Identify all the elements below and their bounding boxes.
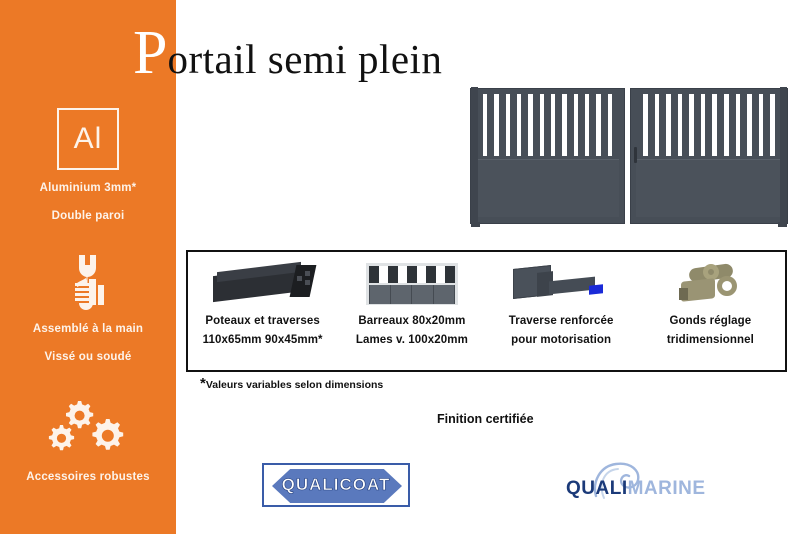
feature-gonds-line2: tridimensionnel xyxy=(667,334,754,346)
gate-leaf-left xyxy=(470,88,625,224)
sidebar-label-aluminium-1: Aluminium 3mm* xyxy=(0,180,176,198)
gate-bars-left xyxy=(476,94,619,156)
gate-leaf-right xyxy=(630,88,788,224)
feature-gonds-line1: Gonds réglage xyxy=(669,315,751,327)
hinge-icon xyxy=(677,261,743,307)
certification-heading: Finition certifiée xyxy=(437,412,534,426)
sidebar-item-aluminium: Al Aluminium 3mm* Double paroi xyxy=(0,108,176,226)
footnote: *Valeurs variables selon dimensions xyxy=(200,379,383,391)
features-panel: Poteaux et traverses 110x65mm 90x45mm* B… xyxy=(186,250,787,372)
hand-wrench-icon xyxy=(0,253,176,311)
gate-post-left xyxy=(471,87,478,227)
page-title: P ortail semi plein xyxy=(133,22,442,84)
sidebar-item-assembly: Assemblé à la main Vissé ou soudé xyxy=(0,253,176,367)
page-title-rest: ortail semi plein xyxy=(167,39,442,80)
sidebar-label-accessories: Accessoires robustes xyxy=(0,469,176,487)
portail-semi-plein-image xyxy=(470,88,788,224)
footnote-text: Valeurs variables selon dimensions xyxy=(206,379,383,391)
qualimarine-part1: QUALI xyxy=(566,478,628,499)
qualicoat-logo-text: QUALICOAT xyxy=(282,475,391,495)
sidebar-label-assembly-1: Assemblé à la main xyxy=(0,321,176,339)
feature-barreaux-line1: Barreaux 80x20mm xyxy=(358,315,465,327)
gate-handle-icon xyxy=(634,147,637,163)
feature-poteaux-line1: Poteaux et traverses xyxy=(205,315,320,327)
gate-sample-icon xyxy=(366,261,458,307)
feature-traverse-line2: pour motorisation xyxy=(511,334,611,346)
qualimarine-logo: QUALIMARINE xyxy=(560,462,720,508)
qualimarine-part2: MARINE xyxy=(628,478,706,499)
product-sheet-page: Al Aluminium 3mm* Double paroi xyxy=(0,0,800,534)
sidebar-item-accessories: Accessoires robustes xyxy=(0,397,176,487)
gate-panel-right xyxy=(636,159,782,217)
sidebar-label-aluminium-2: Double paroi xyxy=(0,208,176,226)
qualicoat-logo: QUALICOAT xyxy=(262,463,410,507)
aluminium-square-icon: Al xyxy=(0,108,176,170)
qualimarine-logo-text: QUALIMARINE xyxy=(566,478,706,500)
gate-panel-left xyxy=(476,159,619,217)
gears-icon xyxy=(0,397,176,459)
aluminium-symbol-label: Al xyxy=(74,124,103,154)
gate-post-right xyxy=(780,87,787,227)
feature-barreaux-line2: Lames v. 100x20mm xyxy=(356,334,468,346)
gate-foot-right xyxy=(778,222,787,227)
sidebar-label-assembly-2: Vissé ou soudé xyxy=(0,349,176,367)
reinforced-crossbar-icon xyxy=(511,261,611,307)
feature-traverse-line1: Traverse renforcée xyxy=(509,315,614,327)
gate-foot-left xyxy=(471,222,480,227)
feature-gonds: Gonds réglage tridimensionnel xyxy=(636,252,785,370)
feature-poteaux-line2: 110x65mm 90x45mm* xyxy=(203,334,323,346)
feature-traverse: Traverse renforcée pour motorisation xyxy=(487,252,636,370)
gate-bars-right xyxy=(636,94,782,156)
aluminium-profile-icon xyxy=(213,261,313,307)
feature-barreaux: Barreaux 80x20mm Lames v. 100x20mm xyxy=(337,252,486,370)
feature-poteaux: Poteaux et traverses 110x65mm 90x45mm* xyxy=(188,252,337,370)
page-title-initial: P xyxy=(133,22,167,84)
